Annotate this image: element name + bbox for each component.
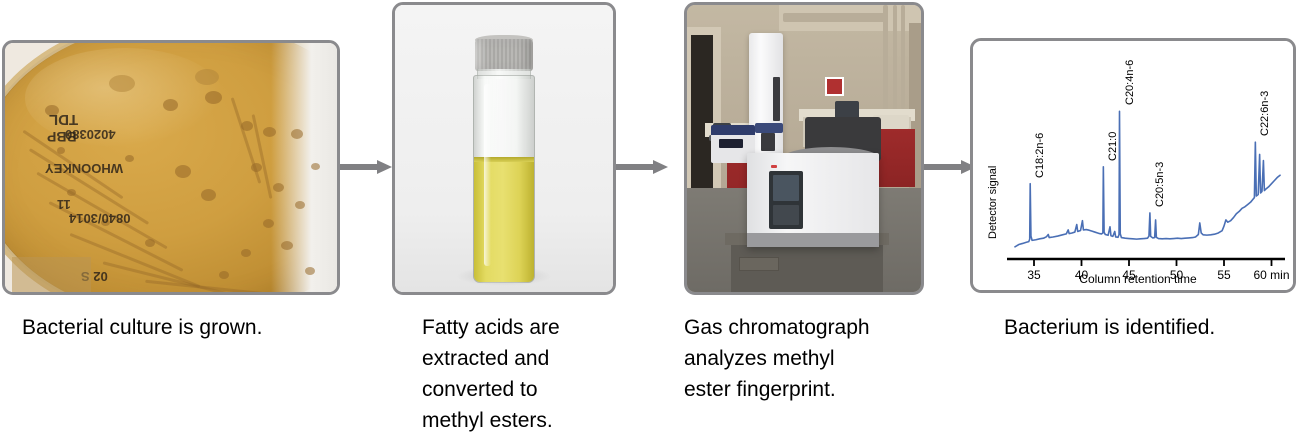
step-2-caption: Fatty acids are extracted and converted … xyxy=(422,312,622,436)
dish-label-line: 0840/3014 xyxy=(69,211,130,226)
x-axis-title: Column retention time xyxy=(1003,272,1273,286)
vial-highlight xyxy=(484,84,492,265)
bacterial-colony xyxy=(175,165,191,178)
step-4-caption: Bacterium is identified. xyxy=(1004,312,1294,343)
bacterial-colony xyxy=(57,147,65,154)
dish-label-line: TDL xyxy=(49,111,78,128)
bacterial-colony xyxy=(145,239,155,247)
bacterial-colony xyxy=(241,249,251,257)
bacterial-colony xyxy=(205,91,222,104)
autosampler-accent xyxy=(755,123,783,133)
gas-chromatograph-photo xyxy=(687,5,921,292)
dish-label-line: 11 xyxy=(57,197,71,212)
bacterial-colony xyxy=(273,183,284,192)
dish-label-line: 4020380 xyxy=(65,127,116,142)
petri-dish-photo: TDL BBP 4020380 WHOONKEY 11 0840/3014 02… xyxy=(5,43,337,292)
gc-display xyxy=(773,175,799,201)
bacterial-colony xyxy=(67,189,76,196)
ceiling-duct xyxy=(783,13,887,22)
bacterial-colony xyxy=(201,189,216,201)
gc-status-light xyxy=(771,165,777,168)
bacterial-colony xyxy=(163,99,178,111)
peak-label: C21:0 xyxy=(1107,131,1119,160)
injector-arm xyxy=(761,133,775,151)
arrow-2-to-3 xyxy=(616,160,668,174)
controller-display xyxy=(719,139,743,148)
autosampler-slot xyxy=(773,77,780,121)
ceiling-pipe xyxy=(893,5,897,113)
bacterial-colony xyxy=(291,129,303,139)
arrow-1-to-2 xyxy=(340,160,392,174)
arrow-3-to-4 xyxy=(924,160,976,174)
detector-signal-trace xyxy=(1015,111,1280,247)
gc-keypad xyxy=(773,205,799,225)
vial-cap xyxy=(475,39,533,71)
step-1-image-panel: TDL BBP 4020380 WHOONKEY 11 0840/3014 02… xyxy=(2,40,340,295)
doorway xyxy=(691,35,713,195)
bacterial-colony xyxy=(295,201,305,209)
bacterial-colony xyxy=(125,155,134,162)
bacterial-colony xyxy=(311,163,320,170)
chromatogram-plot: Detector signal C18:2n-6C21:0C20:4n-6C20… xyxy=(973,41,1293,290)
controller-top xyxy=(711,125,755,135)
step-3-image-panel xyxy=(684,2,924,295)
wall-sign xyxy=(825,77,844,96)
bacterial-colony xyxy=(305,267,315,275)
gc-oven-base xyxy=(747,233,879,247)
bacterial-colony xyxy=(263,219,274,228)
peak-label: C20:5n-3 xyxy=(1154,162,1166,207)
vial-body xyxy=(473,75,535,283)
bacterial-colony xyxy=(195,69,219,85)
peak-label: C22:6n-3 xyxy=(1259,91,1271,136)
peak-label: C18:2n-6 xyxy=(1034,132,1046,177)
bacterial-colony xyxy=(241,121,253,131)
step-1-caption: Bacterial culture is grown. xyxy=(22,312,352,343)
dish-tape xyxy=(12,257,92,292)
step-4-image-panel: Detector signal C18:2n-6C21:0C20:4n-6C20… xyxy=(970,38,1296,293)
dish-label-line: WHOONKEY xyxy=(45,161,123,176)
photo-edge-light xyxy=(271,43,337,292)
bacterial-colony xyxy=(219,271,229,279)
ceiling-pipe xyxy=(901,5,905,109)
bacterial-colony xyxy=(251,163,262,172)
bacterial-colony xyxy=(109,75,135,92)
bacterial-colony xyxy=(281,241,293,250)
step-2-image-panel xyxy=(392,2,616,295)
table-drawer xyxy=(739,257,779,271)
sample-vial-photo xyxy=(395,5,613,292)
bacterial-colony xyxy=(263,127,276,137)
figure-root: TDL BBP 4020380 WHOONKEY 11 0840/3014 02… xyxy=(0,0,1300,438)
peak-label: C20:4n-6 xyxy=(1124,60,1136,105)
step-3-caption: Gas chromatograph analyzes methyl ester … xyxy=(684,312,924,405)
